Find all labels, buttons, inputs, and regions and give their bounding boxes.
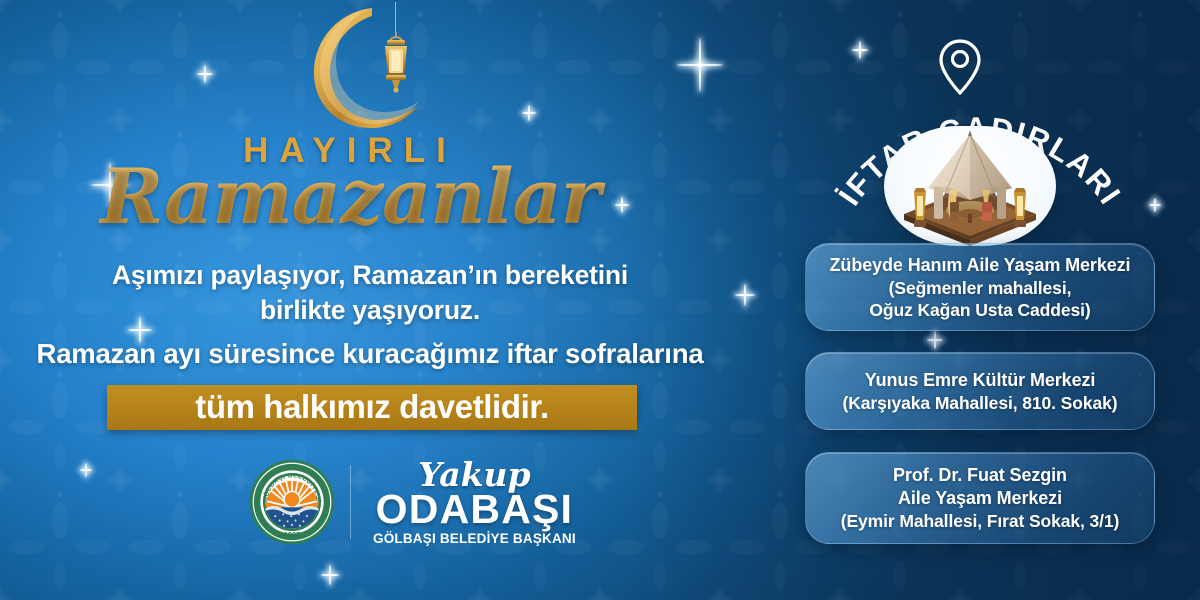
signature-divider xyxy=(350,465,351,539)
hanging-lantern-icon xyxy=(378,32,414,94)
municipality-emblem-logo: GÖLBAŞI BELEDİYESİ 1965 xyxy=(248,458,336,546)
left-content-column: HAYIRLI Ramazanlar Aşımızı paylaşıyor, R… xyxy=(0,0,760,600)
location-name: Yunus Emre Kültür Merkezi xyxy=(806,369,1154,392)
crescent-moon-and-lantern xyxy=(300,2,450,132)
page-title: Ramazanlar xyxy=(0,152,700,241)
location-card[interactable]: Zübeyde Hanım Aile Yaşam Merkezi (Seğmen… xyxy=(805,243,1155,331)
message-line-3: Ramazan ayı süresince kuracağımız iftar … xyxy=(0,336,740,371)
ramadan-announcement-banner: HAYIRLI Ramazanlar Aşımızı paylaşıyor, R… xyxy=(0,0,1200,600)
message-block: Aşımızı paylaşıyor, Ramazan’ın bereketin… xyxy=(0,258,740,371)
location-name-line-2: Aile Yaşam Merkezi xyxy=(806,487,1154,510)
message-line-1: Aşımızı paylaşıyor, Ramazan’ın bereketin… xyxy=(0,258,740,293)
location-address-line-1: (Karşıyaka Mahallesi, 810. Sokak) xyxy=(806,392,1154,414)
location-address-line-1: (Seğmenler mahallesi, xyxy=(806,277,1154,299)
emblem-year-text: 1965 xyxy=(284,530,301,539)
tent-illustration-circle xyxy=(884,126,1056,246)
message-line-2: birlikte yaşıyoruz. xyxy=(0,293,740,328)
mayor-name-block: Yakup ODABAŞI GÖLBAŞI BELEDİYE BAŞKANI xyxy=(373,458,576,546)
mayor-title: GÖLBAŞI BELEDİYE BAŞKANI xyxy=(373,531,576,546)
mayor-last-name: ODABAŞI xyxy=(373,489,576,530)
location-address-line-1: (Eymir Mahallesi, Fırat Sokak, 3/1) xyxy=(806,510,1154,532)
mayor-signature-block: GÖLBAŞI BELEDİYESİ 1965 Yakup ODABAŞI GÖ… xyxy=(248,458,576,546)
iftar-tent-illustration xyxy=(884,126,1056,246)
location-card[interactable]: Yunus Emre Kültür Merkezi (Karşıyaka Mah… xyxy=(805,352,1155,430)
location-address-line-2: Oğuz Kağan Usta Caddesi) xyxy=(806,299,1154,321)
invitation-highlight-bar: tüm halkımız davetlidir. xyxy=(107,385,637,430)
invitation-highlight-text: tüm halkımız davetlidir. xyxy=(195,388,549,426)
location-name: Zübeyde Hanım Aile Yaşam Merkezi xyxy=(806,254,1154,277)
location-card[interactable]: Prof. Dr. Fuat Sezgin Aile Yaşam Merkezi… xyxy=(805,452,1155,544)
location-name-line-1: Prof. Dr. Fuat Sezgin xyxy=(806,464,1154,487)
lantern-cord xyxy=(395,2,396,36)
crescent-moon-icon xyxy=(300,2,450,132)
